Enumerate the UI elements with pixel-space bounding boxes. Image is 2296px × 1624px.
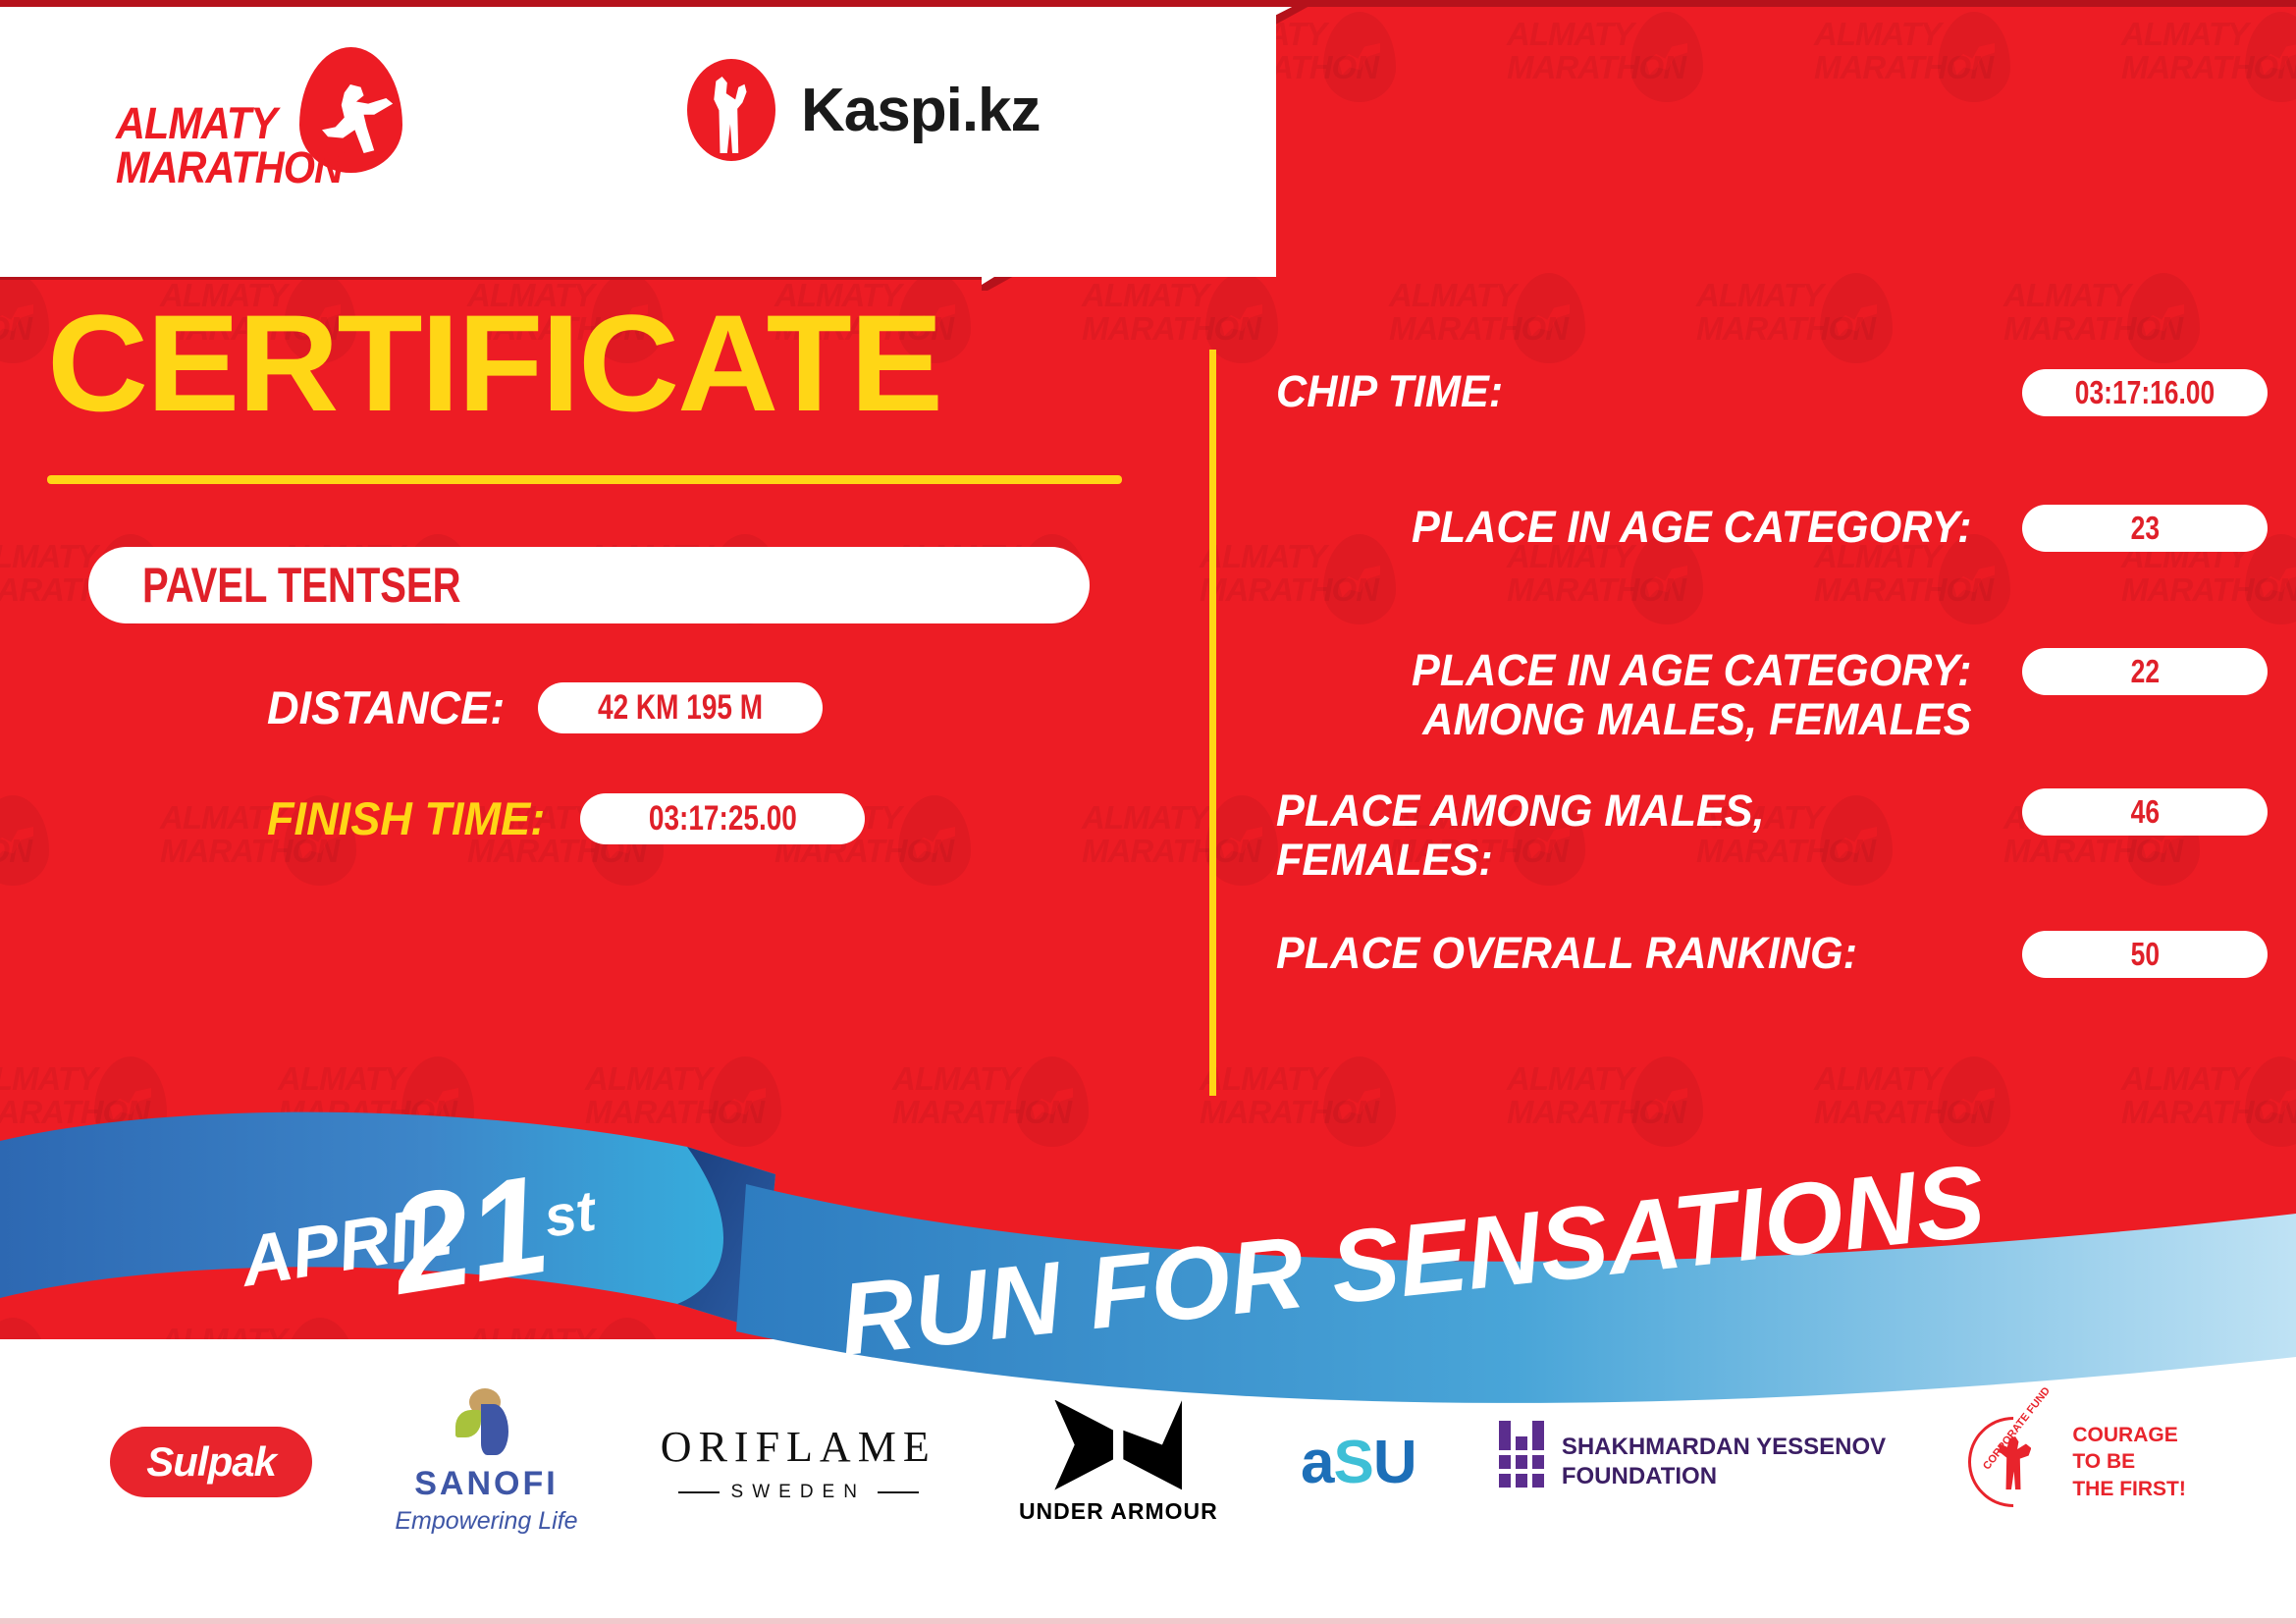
watermark-line2: MARATHON — [1696, 312, 1902, 346]
stats-column: CHIP TIME: 03:17:16.00 PLACE IN AGE CATE… — [1276, 367, 2268, 1049]
kaspi-logo-text: Kaspi.kz — [801, 76, 1041, 145]
watermark-line1: ALMATY — [2003, 279, 2210, 312]
sponsor-under-armour-label: UNDER ARMOUR — [1019, 1498, 1218, 1525]
corporate-fund-line3: THE FIRST! — [2072, 1476, 2186, 1502]
sponsor-sulpak-label: Sulpak — [146, 1438, 276, 1486]
place-age-category-value: 23 — [2130, 510, 2159, 547]
sponsor-oriflame-label: ORIFLAME — [661, 1422, 936, 1472]
sponsor-corporate-fund: CORPORATE FUND COURAGE TO BE THE FIRST! — [1968, 1417, 2186, 1507]
corporate-fund-logo-icon: CORPORATE FUND — [1968, 1417, 2058, 1507]
place-age-category-gender-value-pill: 22 — [2022, 648, 2268, 695]
finish-time-value-pill: 03:17:25.00 — [580, 793, 865, 844]
watermark-drop-icon — [1820, 273, 1893, 363]
sponsor-yessenov-label: SHAKHMARDAN YESSENOV FOUNDATION — [1562, 1433, 1886, 1491]
watermark-drop-icon — [2127, 273, 2200, 363]
top-hairline — [0, 0, 2296, 7]
watermark-line1: ALMATY — [1696, 279, 1902, 312]
watermark-line1: ALMATY — [1507, 1062, 1713, 1096]
watermark-drop-icon — [2245, 12, 2296, 102]
sponsor-yessenov-line1: SHAKHMARDAN YESSENOV — [1562, 1433, 1886, 1462]
title-underline — [47, 475, 1122, 484]
column-divider — [1209, 350, 1216, 1096]
watermark-line2: MARATHON — [1389, 312, 1595, 346]
sponsor-under-armour: UNDER ARMOUR — [1019, 1400, 1218, 1525]
watermark-line1: ALMATY — [1507, 18, 1713, 51]
almaty-logo-line2: MARATHON — [116, 142, 343, 193]
watermark-tile: ALMATYMARATHON — [1507, 18, 1713, 165]
watermark-line2: MARATHON — [2003, 312, 2210, 346]
watermark-drop-icon — [1205, 273, 1278, 363]
place-among-gender-value: 46 — [2130, 793, 2159, 831]
sanofi-logo-icon — [455, 1388, 516, 1459]
kaspi-logo: Kaspi.kz — [687, 59, 1041, 161]
watermark-line1: ALMATY — [892, 1062, 1098, 1096]
corporate-fund-line1: COURAGE — [2072, 1422, 2186, 1448]
sponsor-sanofi-label: SANOFI — [414, 1465, 558, 1503]
watermark-line1: ALMATY — [1389, 279, 1595, 312]
watermark-line1: ALMATY — [0, 1062, 177, 1096]
sponsor-yessenov-foundation: SHAKHMARDAN YESSENOV FOUNDATION — [1499, 1433, 1886, 1491]
chip-time-value: 03:17:16.00 — [2075, 374, 2215, 411]
watermark-line1: ALMATY — [1814, 18, 2020, 51]
sponsor-sanofi-tagline: Empowering Life — [395, 1507, 577, 1536]
watermark-line2: MARATHON — [1507, 51, 1713, 84]
finish-time-value: 03:17:25.00 — [649, 799, 797, 839]
place-overall-value: 50 — [2130, 936, 2159, 973]
almaty-marathon-logo: ALMATY MARATHON — [116, 47, 440, 180]
watermark-line1: ALMATY — [2121, 18, 2296, 51]
watermark-drop-icon — [1205, 795, 1278, 886]
sponsor-oriflame: ORIFLAME SWEDEN — [661, 1422, 936, 1503]
left-column: CERTIFICATE PAVEL TENTSER DISTANCE: 42 K… — [0, 295, 1158, 845]
sponsor-sulpak: Sulpak — [110, 1427, 312, 1497]
watermark-drop-icon — [1323, 12, 1396, 102]
watermark-drop-icon — [1938, 12, 2010, 102]
watermark-drop-icon — [1630, 12, 1703, 102]
watermark-tile: ALMATYMARATHON — [2121, 18, 2296, 165]
distance-value-pill: 42 KM 195 M — [538, 682, 823, 733]
participant-name: PAVEL TENTSER — [142, 557, 461, 614]
participant-name-field: PAVEL TENTSER — [88, 547, 1090, 623]
sponsor-bar: Sulpak SANOFI Empowering Life ORIFLAME S… — [0, 1339, 2296, 1624]
place-overall-value-pill: 50 — [2022, 931, 2268, 978]
ribbon-day: 21 — [378, 1146, 559, 1325]
sponsor-oriflame-sub-wrap: SWEDEN — [678, 1482, 919, 1503]
watermark-line2: MARATHON — [2121, 51, 2296, 84]
place-overall-label: PLACE OVERALL RANKING: — [1276, 929, 1971, 978]
yessenov-logo-icon — [1499, 1436, 1544, 1488]
place-age-category-label: PLACE IN AGE CATEGORY: — [1276, 503, 1971, 552]
sponsor-corporate-fund-label: COURAGE TO BE THE FIRST! — [2072, 1422, 2186, 1502]
under-armour-logo-icon — [1054, 1400, 1182, 1490]
stat-row-place-age-category-gender: PLACE IN AGE CATEGORY: AMONG MALES, FEMA… — [1276, 646, 2268, 745]
page-title: CERTIFICATE — [47, 295, 1181, 432]
watermark-tile: ALMATYMARATHON — [1814, 18, 2020, 165]
distance-row: DISTANCE: 42 KM 195 M — [0, 680, 1158, 734]
sponsor-asu-label: aSU — [1301, 1428, 1416, 1497]
chip-time-value-pill: 03:17:16.00 — [2022, 369, 2268, 416]
stat-row-place-overall: PLACE OVERALL RANKING: 50 — [1276, 929, 2268, 1013]
sponsor-sanofi: SANOFI Empowering Life — [395, 1388, 577, 1536]
place-among-gender-label: PLACE AMONG MALES, FEMALES: — [1276, 786, 1971, 886]
chip-time-label: CHIP TIME: — [1276, 367, 1971, 416]
finish-time-row: FINISH TIME: 03:17:25.00 — [0, 791, 1158, 845]
certificate-canvas: ALMATYMARATHONALMATYMARATHONALMATYMARATH… — [0, 0, 2296, 1624]
sponsor-yessenov-line2: FOUNDATION — [1562, 1462, 1886, 1491]
watermark-line2: MARATHON — [1814, 51, 2020, 84]
stat-row-chip-time: CHIP TIME: 03:17:16.00 — [1276, 367, 2268, 452]
watermark-drop-icon — [1513, 273, 1585, 363]
stat-row-place-among-gender: PLACE AMONG MALES, FEMALES: 46 — [1276, 786, 2268, 886]
distance-value: 42 KM 195 M — [598, 688, 763, 728]
watermark-line1: ALMATY — [585, 1062, 791, 1096]
place-among-gender-value-pill: 46 — [2022, 788, 2268, 836]
place-age-category-gender-label: PLACE IN AGE CATEGORY: AMONG MALES, FEMA… — [1276, 646, 1971, 745]
place-age-category-value-pill: 23 — [2022, 505, 2268, 552]
watermark-line1: ALMATY — [1814, 1062, 2020, 1096]
finish-time-label: FINISH TIME: — [267, 791, 545, 845]
stat-row-place-age-category: PLACE IN AGE CATEGORY: 23 — [1276, 503, 2268, 587]
place-age-category-gender-value: 22 — [2130, 653, 2159, 690]
watermark-line1: ALMATY — [1200, 1062, 1406, 1096]
sponsor-oriflame-sub: SWEDEN — [731, 1482, 866, 1503]
watermark-line1: ALMATY — [278, 1062, 484, 1096]
corporate-fund-line2: TO BE — [2072, 1448, 2186, 1475]
distance-label: DISTANCE: — [267, 680, 505, 734]
kaspi-figure-icon — [687, 59, 775, 161]
sponsor-asu: aSU — [1301, 1428, 1416, 1497]
watermark-line1: ALMATY — [2121, 1062, 2296, 1096]
